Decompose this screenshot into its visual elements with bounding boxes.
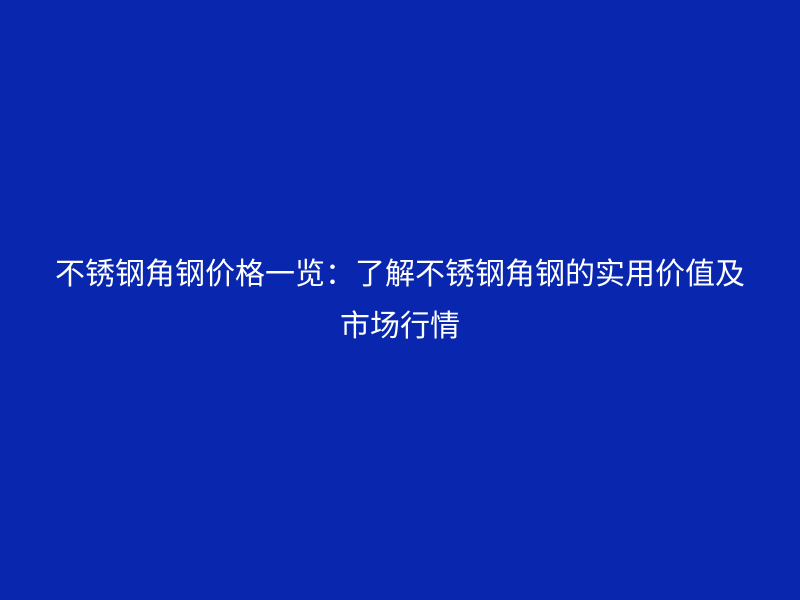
title-block: 不锈钢角钢价格一览：了解不锈钢角钢的实用价值及市场行情: [50, 249, 750, 353]
page-title: 不锈钢角钢价格一览：了解不锈钢角钢的实用价值及市场行情: [50, 249, 750, 353]
banner-canvas: 不锈钢角钢价格一览：了解不锈钢角钢的实用价值及市场行情: [0, 0, 800, 600]
